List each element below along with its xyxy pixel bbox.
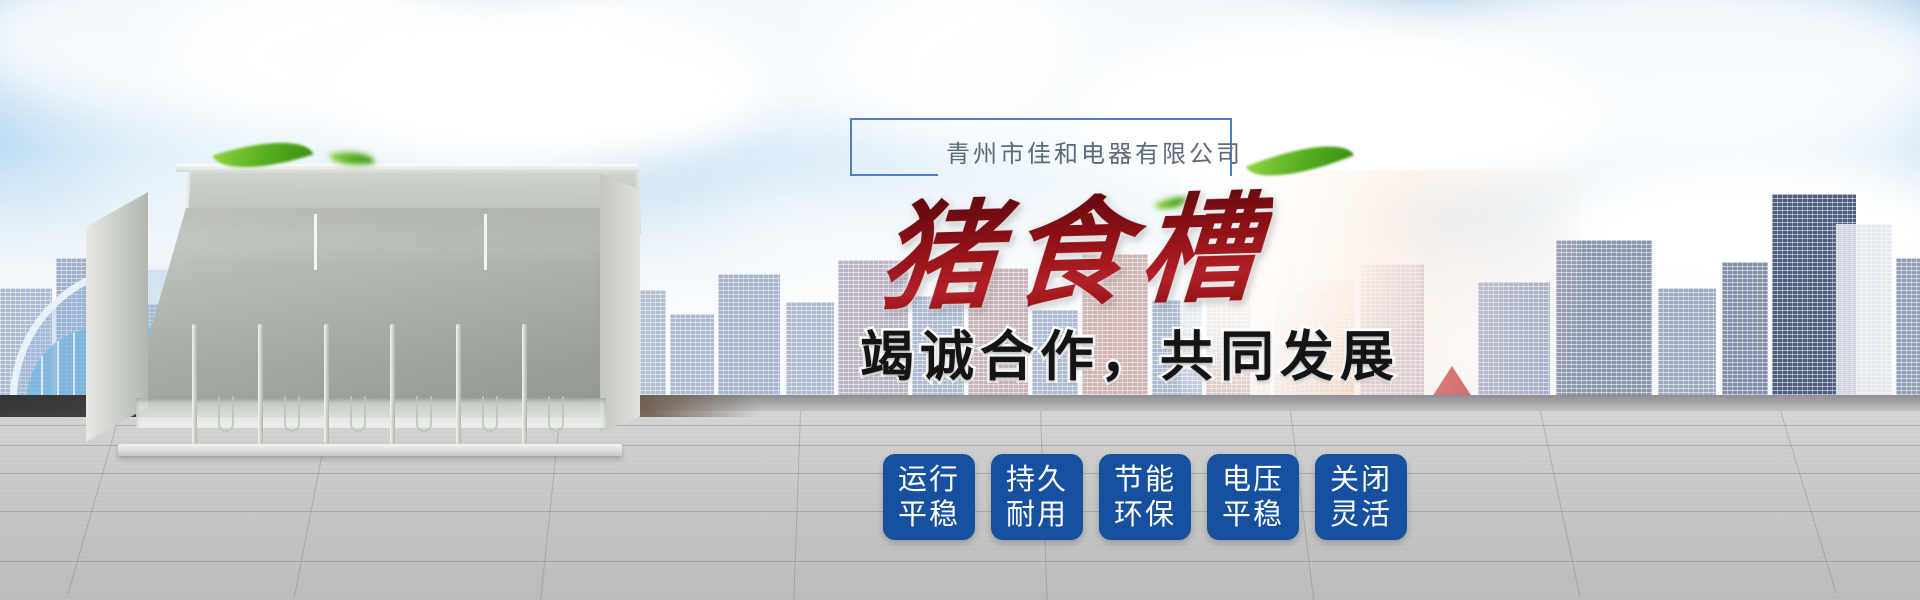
banner-subtitle: 竭诚合作，共同发展 [860, 330, 1400, 384]
badge-line-2: 平稳 [898, 497, 960, 532]
feature-badge-2[interactable]: 持久 耐用 [991, 454, 1083, 540]
product-image-pig-feeding-trough [80, 168, 640, 468]
feature-badge-5[interactable]: 关闭 灵活 [1315, 454, 1407, 540]
badge-line-2: 环保 [1114, 497, 1176, 532]
banner-copy: 青州市佳和电器有限公司 猪食槽 竭诚合作，共同发展 运行 平稳 持久 耐用 节能… [850, 118, 1490, 176]
badge-line-2: 耐用 [1006, 497, 1068, 532]
badge-line-1: 电压 [1222, 462, 1284, 497]
badge-line-2: 平稳 [1222, 497, 1284, 532]
company-name: 青州市佳和电器有限公司 [946, 134, 1243, 169]
badge-line-1: 关闭 [1330, 462, 1392, 497]
feature-badge-4[interactable]: 电压 平稳 [1207, 454, 1299, 540]
frame-border-bottom [850, 174, 938, 176]
feature-badge-1[interactable]: 运行 平稳 [883, 454, 975, 540]
badge-line-1: 持久 [1006, 462, 1068, 497]
company-name-frame: 青州市佳和电器有限公司 [850, 118, 1232, 176]
feature-badge-3[interactable]: 节能 环保 [1099, 454, 1191, 540]
page-title: 猪食槽 [876, 189, 1274, 318]
badge-line-1: 运行 [898, 462, 960, 497]
frame-border-top [850, 118, 1232, 120]
promotional-banner: 青州市佳和电器有限公司 猪食槽 竭诚合作，共同发展 运行 平稳 持久 耐用 节能… [0, 0, 1920, 600]
badge-line-2: 灵活 [1330, 497, 1392, 532]
frame-border-left [850, 118, 852, 176]
feature-badge-list: 运行 平稳 持久 耐用 节能 环保 电压 平稳 关闭 灵活 [883, 454, 1407, 540]
badge-line-1: 节能 [1114, 462, 1176, 497]
